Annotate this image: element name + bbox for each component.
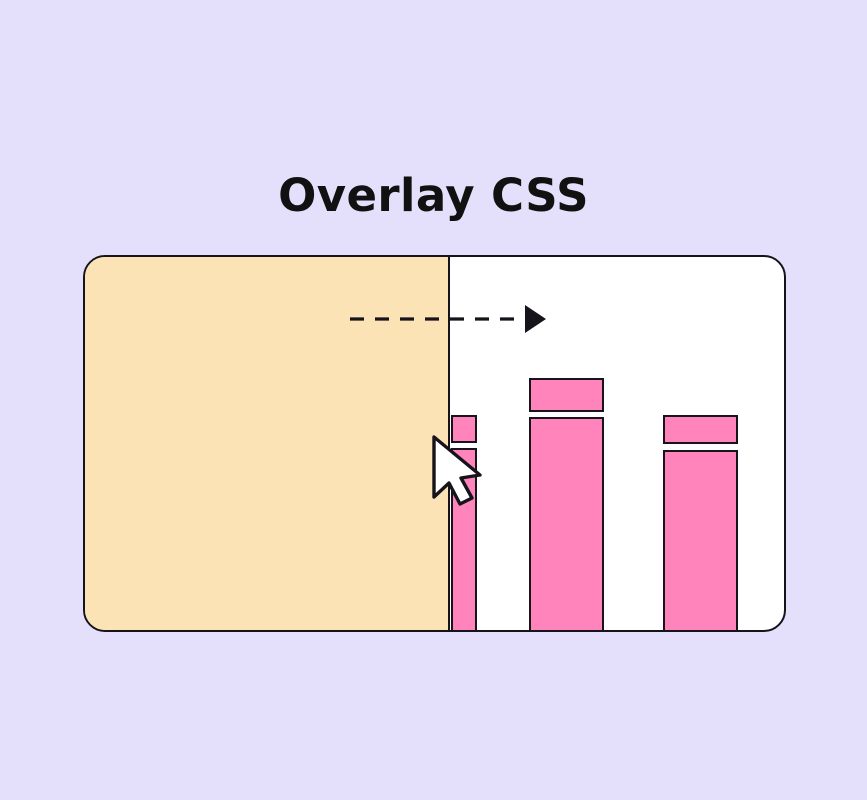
chart-card xyxy=(83,255,786,632)
page-title: Overlay CSS xyxy=(0,168,867,224)
bar-1-cap xyxy=(451,415,477,443)
bar-1-body xyxy=(451,448,477,632)
bar-3-cap xyxy=(663,415,738,444)
overlay-panel xyxy=(85,257,450,630)
illustration-stage: Overlay CSS xyxy=(0,0,867,800)
bar-2-cap xyxy=(529,378,604,412)
bar-3-body xyxy=(663,450,738,632)
bar-2-body xyxy=(529,417,604,632)
